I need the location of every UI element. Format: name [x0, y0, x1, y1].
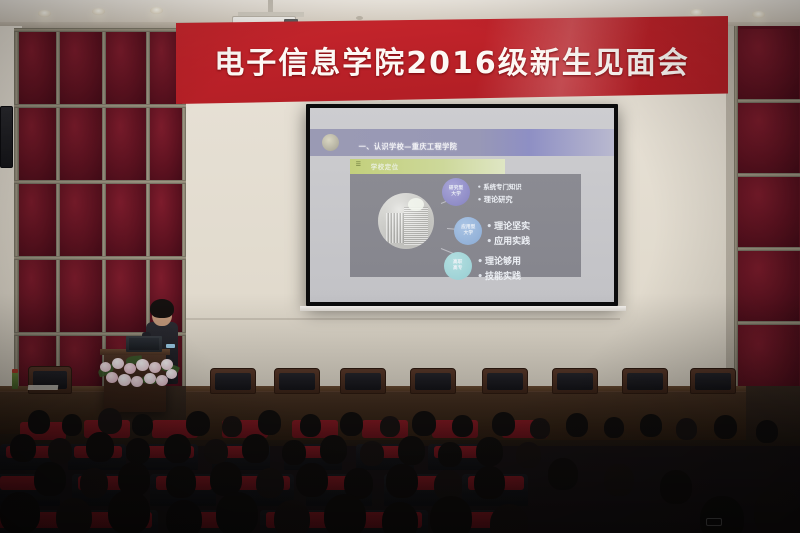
audience-head [34, 462, 66, 496]
audience-head [256, 468, 284, 498]
presenter-badge [166, 344, 175, 348]
audience-head [166, 500, 202, 533]
slide-node-applied-university: 应用型大学 [454, 217, 482, 245]
audience-head [382, 502, 418, 533]
bullet-marker: • [477, 272, 483, 282]
slide-bullet: •理论研究 [477, 195, 512, 205]
bullet-text: 技能实践 [485, 272, 521, 282]
ceiling-spotlight [92, 8, 105, 15]
wall-panel-right [734, 26, 800, 406]
audience-head [108, 490, 150, 533]
audience-head [296, 463, 328, 497]
slide-node-research-university: 研究型大学 [442, 178, 470, 206]
audience-head [28, 410, 50, 434]
bullet-marker: • [477, 257, 483, 267]
bullet-text: 理论够用 [485, 257, 521, 267]
stage-chair [552, 368, 598, 394]
audience-head [386, 464, 418, 498]
presenter-hair [150, 299, 174, 318]
audience-head [476, 437, 503, 466]
audience-head [452, 415, 473, 437]
slide-node-vocational-college: 高职高专 [444, 252, 472, 280]
ceiling-spotlight [38, 10, 51, 17]
audience-head [756, 420, 778, 443]
audience-head [10, 434, 36, 462]
node-label: 应用型大学 [461, 225, 475, 236]
audience-head [300, 414, 321, 437]
audience-head [258, 410, 281, 435]
ceiling-spotlight [690, 9, 703, 16]
stage-chair [210, 368, 256, 394]
slide-bullet: •理论够用 [477, 254, 521, 267]
audience-head [166, 466, 196, 498]
laptop-screen [129, 338, 159, 350]
audience-head [242, 434, 269, 463]
ceiling-spotlight [150, 7, 163, 14]
audience-head [340, 412, 363, 436]
audience-head [380, 416, 400, 437]
audience-head [754, 488, 800, 533]
slide-bullet: •应用实践 [486, 234, 530, 247]
audience-head [210, 462, 242, 496]
bullet-text: 理论研究 [484, 195, 513, 204]
stage-chair [482, 368, 528, 394]
campus-photo-circle [378, 193, 434, 249]
slide-header-band [310, 129, 614, 155]
audience-head [132, 414, 153, 436]
audience-head [98, 408, 122, 434]
audience-head [438, 442, 462, 467]
audience-head [604, 464, 634, 496]
node-label: 高职高专 [453, 260, 463, 271]
slide-bullet: •技能实践 [477, 269, 521, 282]
audience-head [530, 418, 550, 439]
audience-head [62, 414, 82, 436]
audience-head [490, 504, 528, 533]
banner-text: 电子信息学院2016级新生见面会 [176, 16, 728, 104]
wall-seam [186, 318, 626, 320]
documents-on-table [28, 385, 59, 390]
audience-area [0, 400, 800, 533]
audience-head [282, 440, 306, 465]
eyeglasses-icon [706, 518, 722, 526]
stage-chair [410, 368, 456, 394]
bullet-marker: • [477, 195, 482, 204]
audience-head [186, 411, 210, 436]
audience-head [320, 435, 347, 464]
bullet-text: 系统专门知识 [483, 183, 521, 191]
audience-head [640, 414, 662, 437]
stage-chair [274, 368, 320, 394]
bullet-marker: • [486, 222, 492, 232]
audience-head [516, 442, 541, 468]
projection-screen: 一、认识学校—重庆工程学院 ☰ 学校定位 研究型大学 应用型大学 [310, 108, 614, 302]
audience-head [164, 434, 191, 463]
audience-head [56, 498, 92, 533]
audience-head [0, 492, 40, 533]
bullet-marker: • [477, 183, 481, 191]
slide-bullet: •系统专门知识 [477, 182, 521, 191]
event-banner: 电子信息学院2016级新生见面会 [176, 16, 728, 104]
audience-head [86, 432, 114, 462]
audience-head [430, 496, 472, 533]
audience-head [412, 411, 436, 436]
slide: 一、认识学校—重庆工程学院 ☰ 学校定位 研究型大学 应用型大学 [310, 108, 614, 302]
stage-chair [690, 368, 736, 394]
audience-head [492, 412, 515, 436]
audience-head [474, 466, 505, 499]
audience-head [660, 470, 692, 504]
bullet-text: 理论坚实 [494, 222, 530, 232]
audience-head [274, 500, 310, 533]
slide-title: 一、认识学校—重庆工程学院 [359, 142, 458, 152]
water-bottle [12, 372, 18, 389]
audience-head [360, 441, 384, 466]
bullet-marker: • [486, 237, 492, 247]
screen-bottom-bar [300, 306, 626, 311]
audience-head [398, 436, 425, 465]
bullet-text: 应用实践 [494, 237, 530, 247]
audience-head [222, 416, 242, 437]
audience-head [566, 413, 588, 437]
audience-head [80, 468, 108, 498]
flower-arrangement [96, 352, 182, 392]
audience-head [676, 418, 697, 440]
stage-chair [340, 368, 386, 394]
auditorium-photo: 一、认识学校—重庆工程学院 ☰ 学校定位 研究型大学 应用型大学 [0, 0, 800, 533]
audience-head [714, 415, 737, 439]
audience-head [126, 438, 150, 464]
ceiling-spotlight [752, 11, 765, 18]
stage-chair [622, 368, 668, 394]
smoke-detector-icon [356, 16, 363, 20]
bottle-cap [12, 369, 18, 373]
audience-head [216, 492, 258, 533]
slide-subtitle: 学校定位 [371, 162, 399, 171]
slide-bullet: •理论坚实 [486, 219, 530, 232]
list-icon: ☰ [356, 161, 361, 168]
audience-head [700, 496, 744, 533]
node-label: 研究型大学 [449, 186, 463, 197]
audience-head [604, 417, 624, 438]
audience-head [204, 439, 228, 464]
audience-head [48, 438, 72, 464]
audience-head [548, 458, 578, 490]
wall-speaker [0, 106, 13, 168]
audience-head [324, 494, 366, 533]
